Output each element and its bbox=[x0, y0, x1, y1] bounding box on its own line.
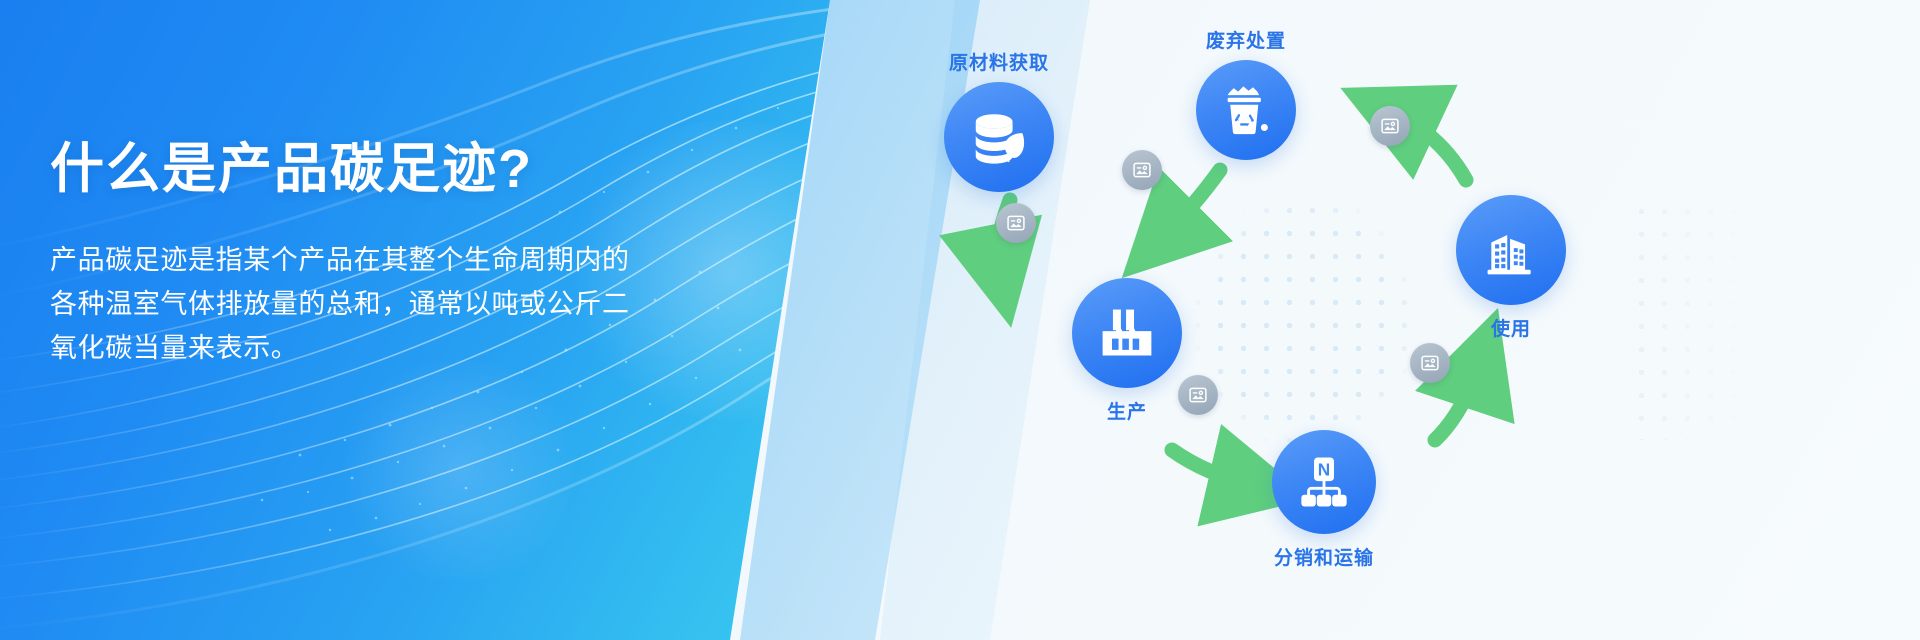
badge-production-to-distribution[interactable] bbox=[1178, 375, 1218, 415]
image-placeholder-icon bbox=[1420, 353, 1440, 373]
node-bubble-distribution: N bbox=[1272, 430, 1376, 534]
hero-description: 产品碳足迹是指某个产品在其整个生命周期内的 各种温室气体排放量的总和，通常以吨或… bbox=[50, 239, 750, 370]
node-waste[interactable]: 废弃处置 bbox=[1196, 60, 1296, 160]
lifecycle-diagram: 原材料获取 废弃处置 bbox=[900, 0, 1920, 640]
node-label-distribution: 分销和运输 bbox=[1204, 543, 1444, 570]
hero-description-line-2: 各种温室气体排放量的总和，通常以吨或公斤二 bbox=[50, 283, 750, 327]
hero-description-line-3: 氧化碳当量来表示。 bbox=[50, 327, 750, 371]
image-placeholder-icon bbox=[1188, 385, 1208, 405]
badge-waste-to-raw[interactable] bbox=[1122, 150, 1162, 190]
badge-distribution-to-use[interactable] bbox=[1410, 343, 1450, 383]
network-node-letter: N bbox=[1318, 460, 1330, 480]
arrow-waste-to-raw bbox=[1162, 170, 1220, 238]
badge-raw-to-production[interactable] bbox=[996, 203, 1036, 243]
node-distribution[interactable]: 分销和运输 N bbox=[1272, 430, 1376, 534]
node-bubble-waste bbox=[1196, 60, 1296, 160]
network-node-icon: N bbox=[1295, 453, 1353, 511]
hero-copy: 什么是产品碳足迹? 产品碳足迹是指某个产品在其整个生命周期内的 各种温室气体排放… bbox=[50, 140, 770, 371]
node-production[interactable]: 生产 bbox=[1072, 278, 1182, 388]
node-bubble-production bbox=[1072, 278, 1182, 388]
badge-use-to-waste[interactable] bbox=[1370, 106, 1410, 146]
recycle-bin-icon bbox=[1218, 82, 1274, 138]
hero-banner: 什么是产品碳足迹? 产品碳足迹是指某个产品在其整个生命周期内的 各种温室气体排放… bbox=[0, 0, 1920, 640]
node-bubble-raw-material bbox=[944, 82, 1054, 192]
arrow-production-to-distribution bbox=[1172, 450, 1256, 486]
node-raw-material[interactable]: 原材料获取 bbox=[944, 82, 1054, 192]
node-label-waste: 废弃处置 bbox=[1126, 26, 1366, 53]
hero-description-line-1: 产品碳足迹是指某个产品在其整个生命周期内的 bbox=[50, 239, 750, 283]
image-placeholder-icon bbox=[1380, 116, 1400, 136]
image-placeholder-icon bbox=[1006, 213, 1026, 233]
node-use[interactable]: 使用 bbox=[1456, 195, 1566, 305]
image-placeholder-icon bbox=[1132, 160, 1152, 180]
node-label-raw-material: 原材料获取 bbox=[879, 48, 1119, 75]
factory-icon bbox=[1097, 303, 1157, 363]
node-label-use: 使用 bbox=[1391, 314, 1631, 341]
database-leaf-icon bbox=[968, 106, 1030, 168]
page-title: 什么是产品碳足迹? bbox=[50, 140, 770, 199]
buildings-icon bbox=[1481, 220, 1541, 280]
node-bubble-use bbox=[1456, 195, 1566, 305]
